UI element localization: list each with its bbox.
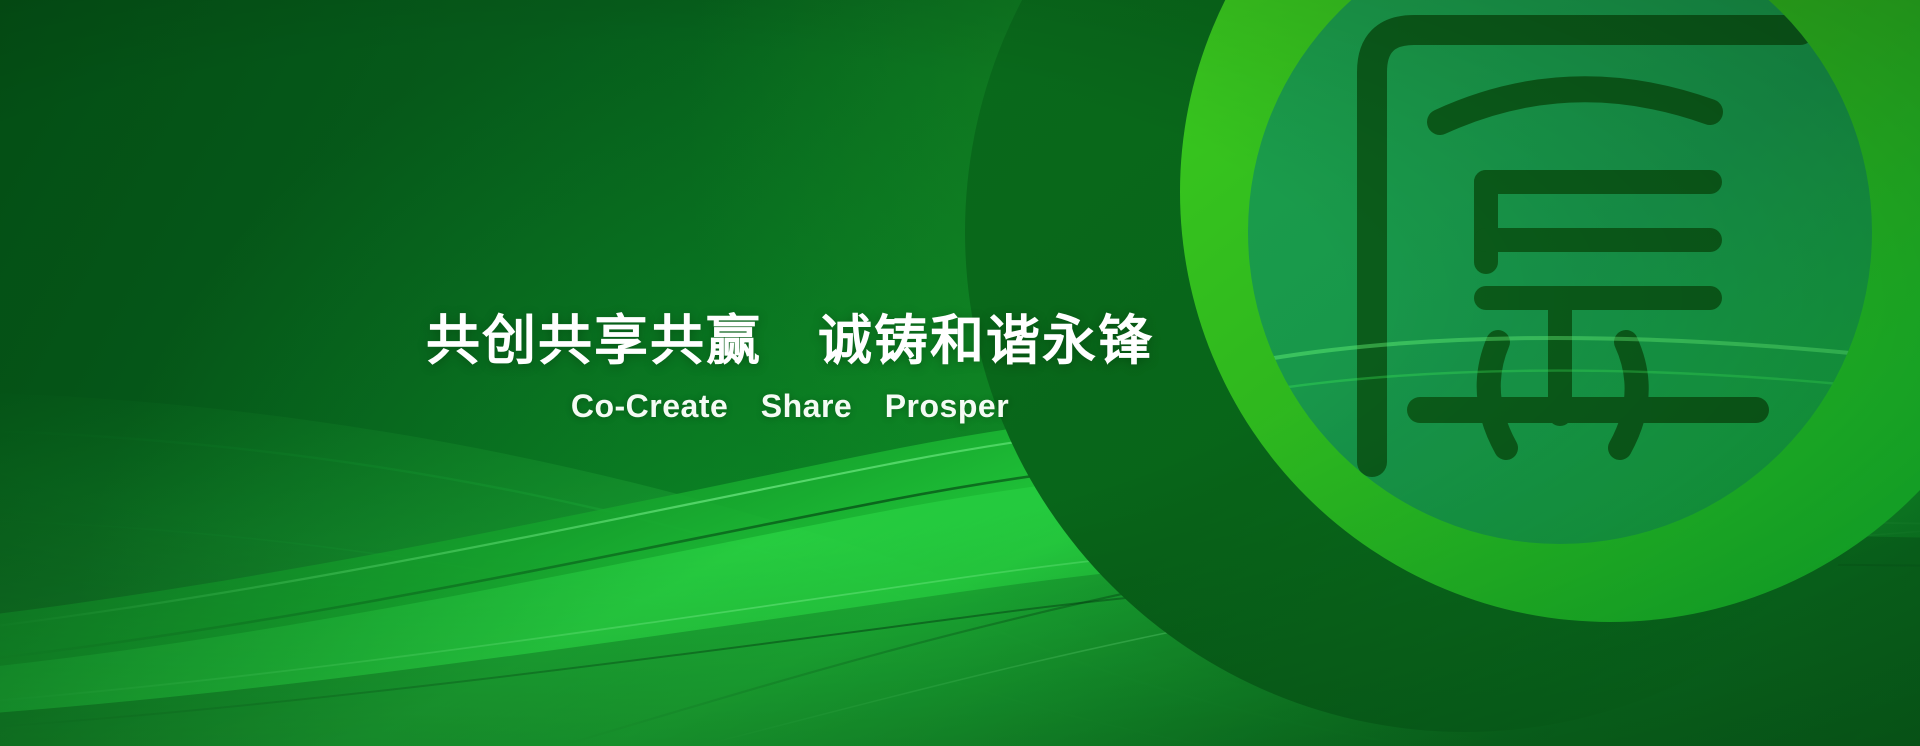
page-title: 共创共享共赢 诚铸和谐永锋: [0, 314, 1580, 368]
hero-text-block: 共创共享共赢 诚铸和谐永锋 Co-Create Share Prosper: [0, 314, 1580, 422]
hero-banner: 共创共享共赢 诚铸和谐永锋 Co-Create Share Prosper: [0, 0, 1920, 746]
page-subtitle: Co-Create Share Prosper: [0, 368, 1580, 422]
